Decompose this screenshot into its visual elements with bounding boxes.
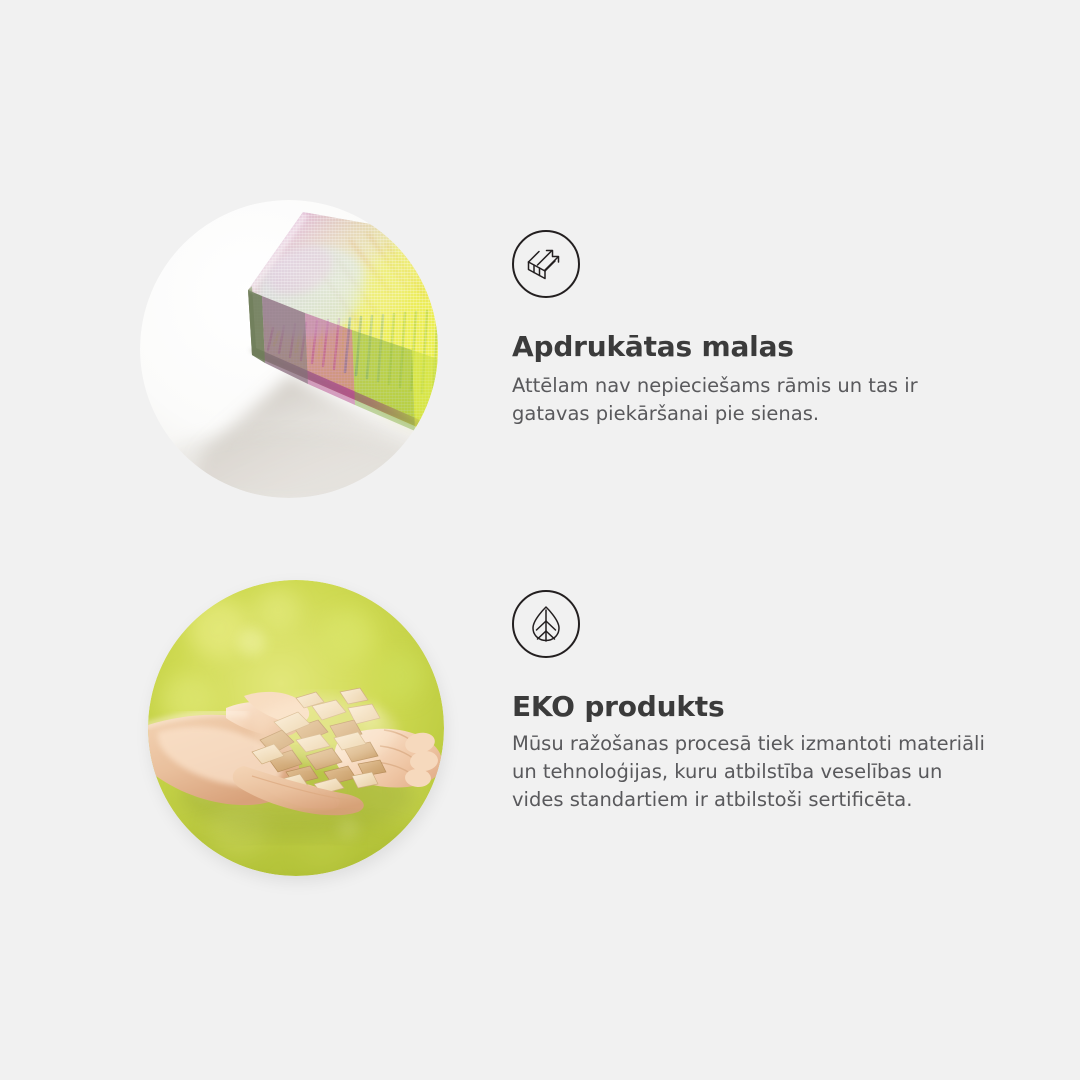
feature-text-eco-product: EKO produkts Mūsu ražošanas procesā tiek…: [512, 590, 1012, 814]
feature-title-printed-edges: Apdrukātas malas: [512, 332, 1012, 363]
canvas-print-corner-photo: [140, 200, 438, 498]
feature-description-eco-product: Mūsu ražošanas procesā tiek izmantoti ma…: [512, 730, 992, 814]
feature-highlights-page: Apdrukātas malas Attēlam nav nepieciešam…: [0, 0, 1080, 1080]
feature-eco-product: EKO produkts Mūsu ražošanas procesā tiek…: [0, 560, 1080, 920]
leaf-icon: [512, 590, 580, 658]
feature-printed-edges: Apdrukātas malas Attēlam nav nepieciešam…: [0, 160, 1080, 520]
hands-holding-wood-chips-photo: [148, 580, 444, 876]
feature-description-printed-edges: Attēlam nav nepieciešams rāmis un tas ir…: [512, 372, 992, 428]
feature-text-printed-edges: Apdrukātas malas Attēlam nav nepieciešam…: [512, 230, 1012, 428]
printed-edges-wrap-icon: [512, 230, 580, 298]
feature-title-eco-product: EKO produkts: [512, 692, 1012, 723]
